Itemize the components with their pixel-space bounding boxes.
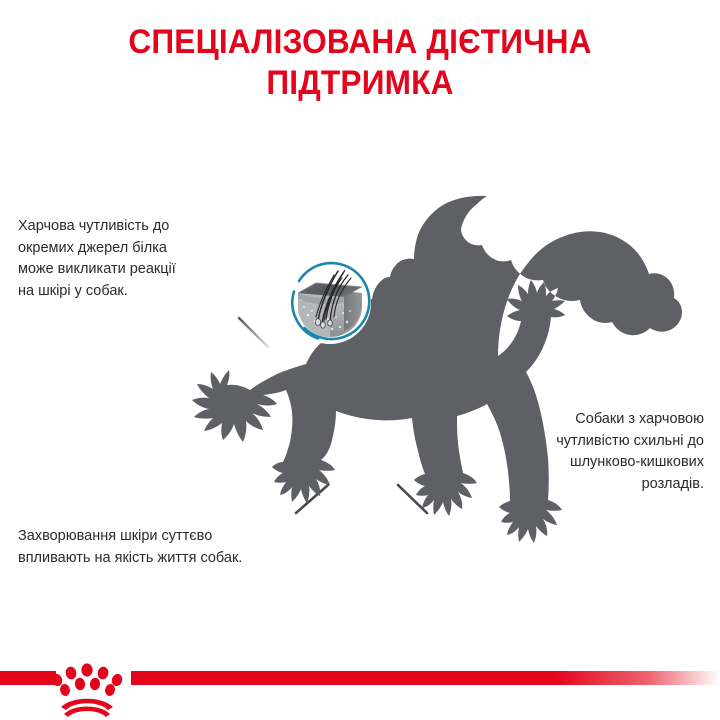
royal-canin-brand-bar [0,640,720,720]
brand-bar-right [131,671,720,685]
skin-cross-section-inset [272,245,388,361]
brand-bar-left-stub [0,671,56,685]
royal-canin-crown-logo [50,663,124,717]
callout-skin-reaction: Харчова чутливість до окремих джерел біл… [18,216,268,302]
infographic-page: СПЕЦІАЛІЗОВАНА ДІЄТИЧНА ПІДТРИМКА [0,0,720,720]
callout-gastro-intestinal: Собаки з харчовою чутливістю схильні до … [468,409,704,495]
callout-quality-of-life: Захворювання шкіри суттєво впливають на … [18,526,348,569]
